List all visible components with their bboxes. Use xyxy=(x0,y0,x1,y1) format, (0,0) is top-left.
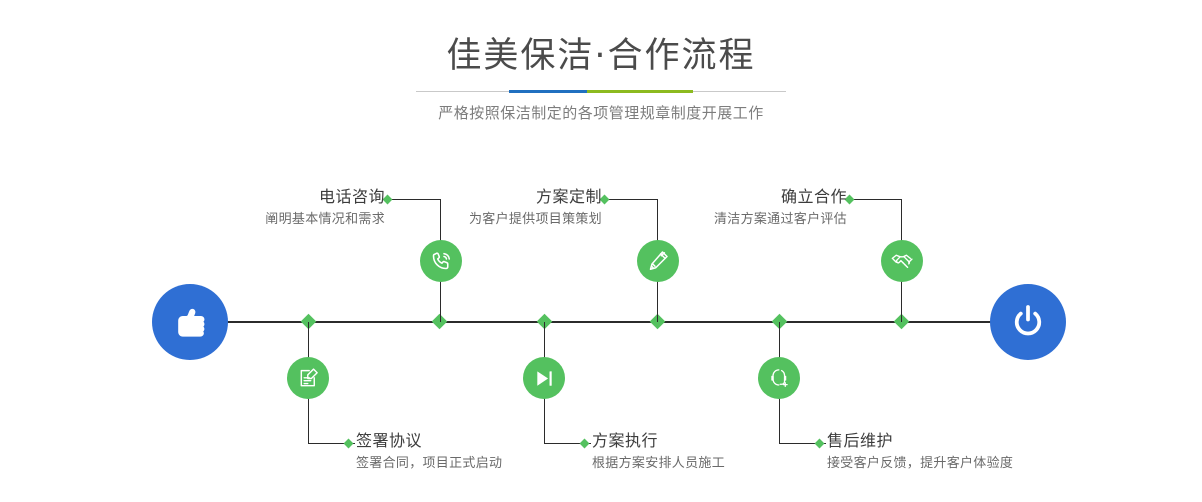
pencil-ruler-icon xyxy=(646,249,670,273)
step-desc-5: 清洁方案通过客户评估 xyxy=(640,210,847,230)
divider-blue-segment xyxy=(509,90,587,93)
step-desc-3: 为客户提供项目策策划 xyxy=(400,210,602,230)
step-desc-4: 根据方案安排人员施工 xyxy=(592,454,812,474)
step-node-2[interactable] xyxy=(287,357,329,399)
step-title-6: 售后维护 xyxy=(827,430,1077,452)
power-icon xyxy=(1008,302,1048,342)
page-title: 佳美保洁·合作流程 xyxy=(0,34,1202,78)
pointing-hand-icon xyxy=(169,301,211,343)
step-label-3: 方案定制 为客户提供项目策策划 xyxy=(400,186,602,230)
page-subtitle: 严格按照保洁制定的各项管理规章制度开展工作 xyxy=(0,102,1202,124)
bullet-step-6 xyxy=(815,439,825,449)
document-edit-icon xyxy=(297,367,320,390)
step-desc-6: 接受客户反馈，提升客户体验度 xyxy=(827,454,1077,474)
step-label-5: 确立合作 清洁方案通过客户评估 xyxy=(640,186,847,230)
header: 佳美保洁·合作流程 严格按照保洁制定的各项管理规章制度开展工作 xyxy=(0,34,1202,124)
step-title-2: 签署协议 xyxy=(356,430,576,452)
timeline-start-endpoint xyxy=(152,284,228,360)
step-desc-2: 签署合同，项目正式启动 xyxy=(356,454,576,474)
step-label-6: 售后维护 接受客户反馈，提升客户体验度 xyxy=(827,430,1077,474)
headset-support-icon xyxy=(768,367,791,390)
step-node-5[interactable] xyxy=(881,240,923,282)
timeline-end-endpoint xyxy=(990,284,1066,360)
step-label-2: 签署协议 签署合同，项目正式启动 xyxy=(356,430,576,474)
step-node-4[interactable] xyxy=(523,357,565,399)
handshake-icon xyxy=(890,249,915,274)
step-title-1: 电话咨询 xyxy=(180,186,385,208)
divider-green-segment xyxy=(587,90,693,93)
title-divider xyxy=(416,91,786,92)
step-label-1: 电话咨询 阐明基本情况和需求 xyxy=(180,186,385,230)
bullet-step-2 xyxy=(344,439,354,449)
play-next-icon xyxy=(533,367,556,390)
step-title-3: 方案定制 xyxy=(400,186,602,208)
bullet-step-4 xyxy=(580,439,590,449)
step-desc-1: 阐明基本情况和需求 xyxy=(180,210,385,230)
cooperation-process-infographic: 佳美保洁·合作流程 严格按照保洁制定的各项管理规章制度开展工作 xyxy=(0,0,1202,502)
step-node-1[interactable] xyxy=(420,240,462,282)
step-title-5: 确立合作 xyxy=(640,186,847,208)
step-node-6[interactable] xyxy=(758,357,800,399)
step-node-3[interactable] xyxy=(637,240,679,282)
connector-arm-step-5 xyxy=(849,199,902,200)
phone-call-icon xyxy=(429,249,453,273)
